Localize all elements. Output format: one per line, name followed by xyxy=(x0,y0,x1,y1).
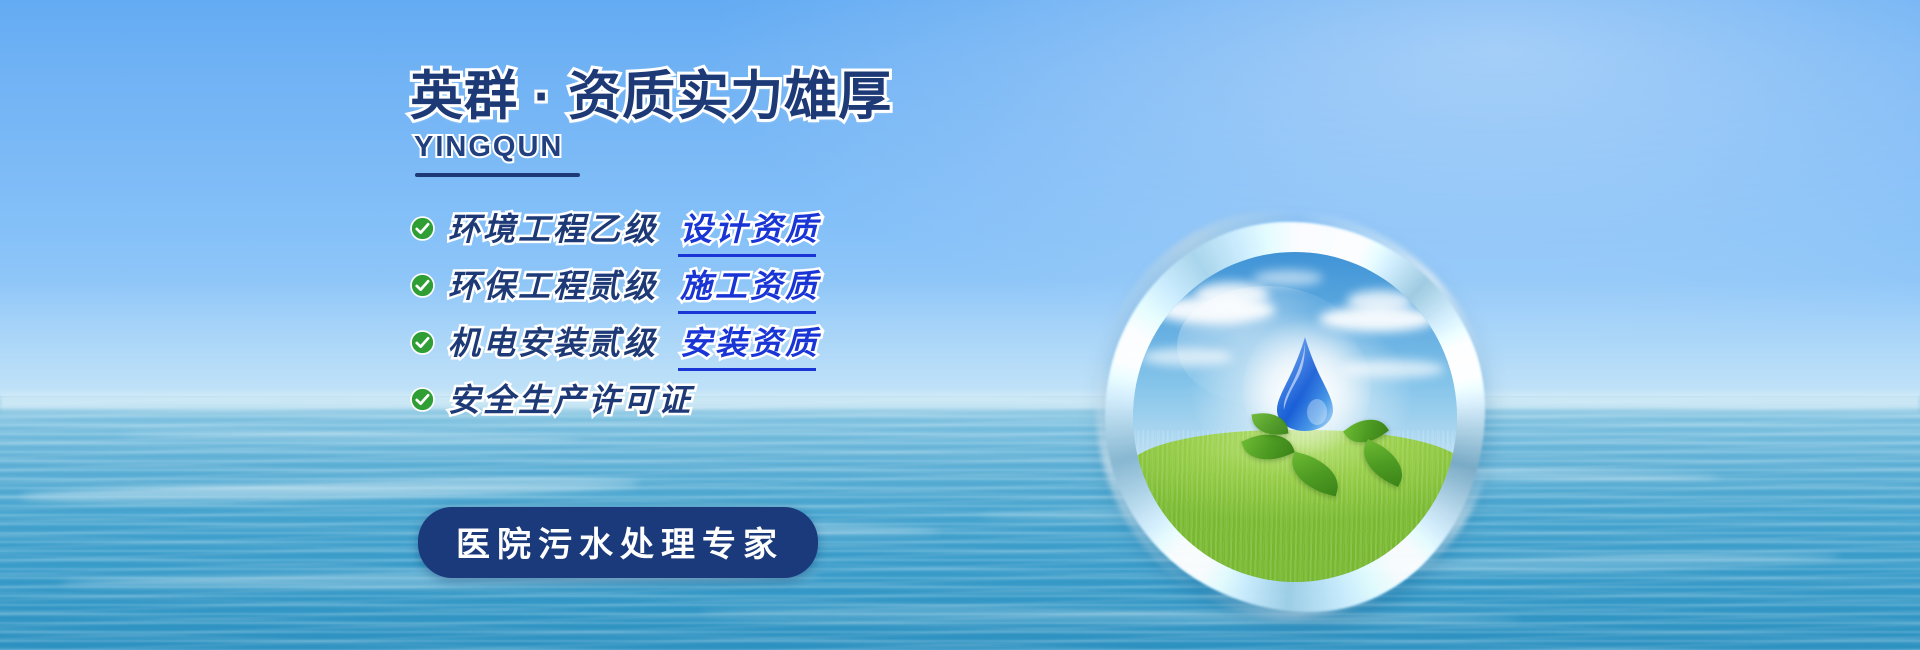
check-circle-icon xyxy=(410,273,435,298)
certification-name: 环保工程贰级 xyxy=(448,261,658,307)
water-sphere-eco-illustration xyxy=(1105,222,1485,612)
certification-name: 机电安装贰级 xyxy=(448,318,658,364)
certification-item: 机电安装贰级 安装资质 xyxy=(410,319,1030,363)
certification-name: 环境工程乙级 xyxy=(448,204,658,250)
tagline-container: 医院污水处理专家 xyxy=(418,507,818,578)
certification-tag: 设计资质 xyxy=(680,204,820,250)
banner-content: 英群 · 资质实力雄厚 YINGQUN 环境工程乙级 设计资质 xyxy=(410,68,1030,433)
certification-name: 安全生产许可证 xyxy=(448,375,693,421)
certification-item: 安全生产许可证 xyxy=(410,376,1030,420)
sphere-scene xyxy=(1133,252,1457,582)
wave-crest xyxy=(20,476,640,505)
certification-item: 环境工程乙级 设计资质 xyxy=(410,205,1030,249)
headline: 英群 · 资质实力雄厚 xyxy=(410,68,1030,125)
check-circle-icon xyxy=(410,330,435,355)
cloud-icon xyxy=(1347,290,1413,312)
check-circle-icon xyxy=(410,216,435,241)
cloud-icon xyxy=(1195,282,1269,306)
promo-banner: 英群 · 资质实力雄厚 YINGQUN 环境工程乙级 设计资质 xyxy=(0,0,1920,650)
certification-item: 环保工程贰级 施工资质 xyxy=(410,262,1030,306)
check-circle-icon xyxy=(410,387,435,412)
cloud-icon xyxy=(1253,270,1323,286)
title-divider xyxy=(415,173,580,177)
certification-list: 环境工程乙级 设计资质 环保工程贰级 施工资质 xyxy=(410,205,1030,420)
cloud-icon xyxy=(1141,348,1233,366)
certification-tag: 安装资质 xyxy=(680,318,820,364)
ocean-background xyxy=(0,396,1920,650)
subheadline-pinyin: YINGQUN xyxy=(414,131,1030,164)
certification-tag: 施工资质 xyxy=(680,261,820,307)
tagline-badge: 医院污水处理专家 xyxy=(418,507,818,578)
